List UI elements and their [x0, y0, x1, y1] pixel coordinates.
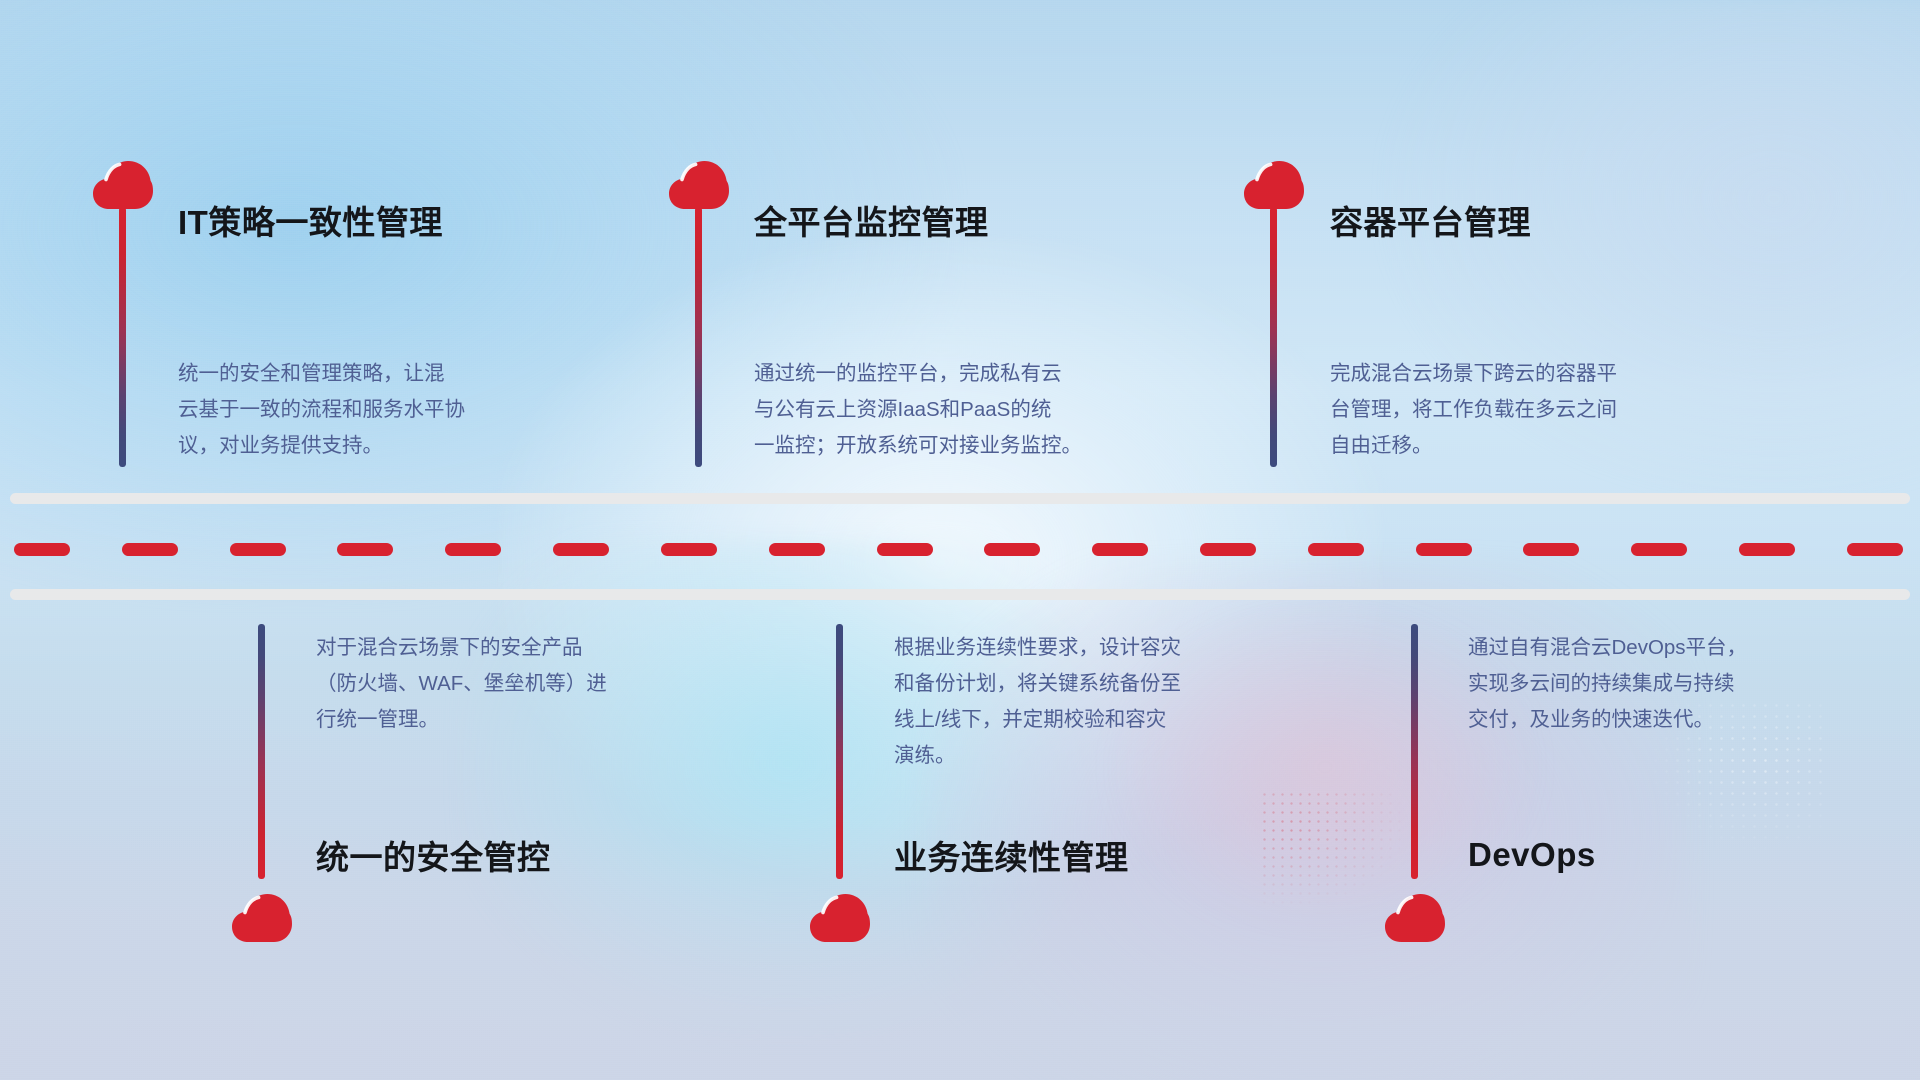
card-body: 统一的安全和管理策略，让混 云基于一致的流程和服务水平协 议，对业务提供支持。 [178, 356, 608, 464]
card-title: IT策略一致性管理 [178, 196, 443, 244]
card-body: 通过统一的监控平台，完成私有云 与公有云上资源IaaS和PaaS的统 一监控；开… [754, 356, 1214, 464]
card-title: 业务连续性管理 [894, 831, 1129, 879]
card-body: 根据业务连续性要求，设计容灾 和备份计划，将关键系统备份至 线上/线下，并定期校… [894, 630, 1344, 774]
speckle-dots-red [1260, 790, 1410, 910]
stem-connector [119, 207, 126, 467]
card-title: DevOps [1468, 836, 1596, 874]
card-body: 通过自有混合云DevOps平台， 实现多云间的持续集成与持续 交付，及业务的快速… [1468, 630, 1918, 738]
stem-connector [836, 624, 843, 879]
cloud-icon [809, 893, 871, 943]
card-title: 容器平台管理 [1330, 196, 1531, 244]
stem-connector [258, 624, 265, 879]
card-body: 完成混合云场景下跨云的容器平 台管理，将工作负载在多云之间 自由迁移。 [1330, 356, 1780, 464]
cloud-icon [1384, 893, 1446, 943]
stem-connector [1270, 207, 1277, 467]
cloud-icon [668, 160, 730, 210]
stem-connector [1411, 624, 1418, 879]
cloud-icon [92, 160, 154, 210]
cloud-icon [231, 893, 293, 943]
cloud-icon [1243, 160, 1305, 210]
card-body: 对于混合云场景下的安全产品 （防火墙、WAF、堡垒机等）进 行统一管理。 [316, 630, 746, 738]
card-title: 全平台监控管理 [754, 196, 989, 244]
stem-connector [695, 207, 702, 467]
card-title: 统一的安全管控 [316, 831, 551, 879]
